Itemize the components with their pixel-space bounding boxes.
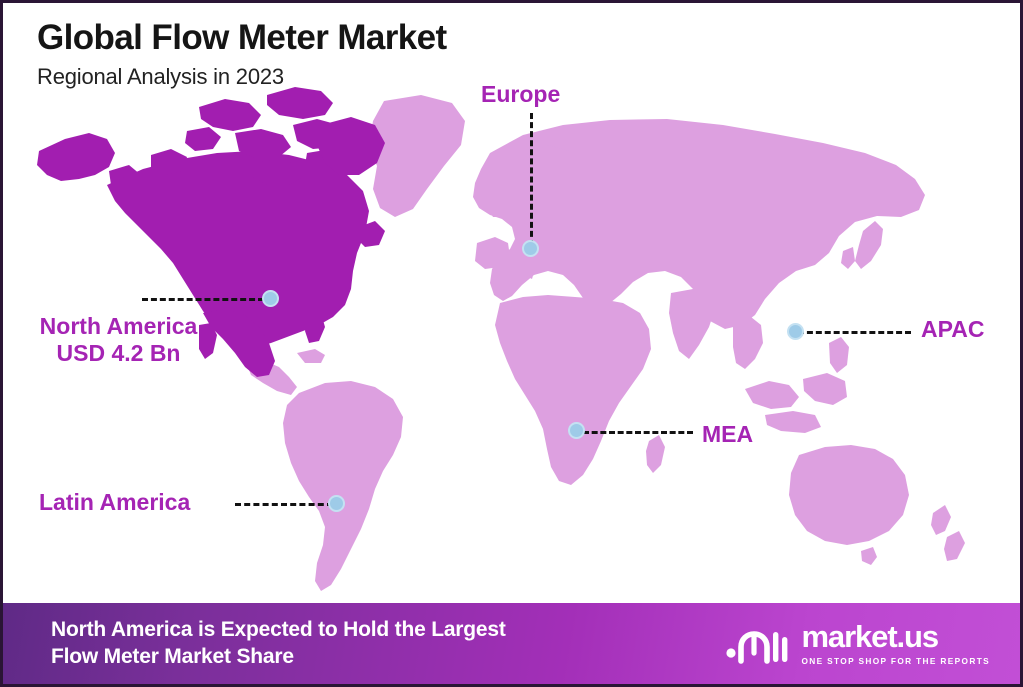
region-label-europe-name: Europe (481, 81, 560, 107)
region-label-mea-name: MEA (702, 421, 753, 447)
map-marker-europe[interactable] (522, 240, 539, 257)
footer-headline-line2: Flow Meter Market Share (51, 644, 506, 671)
map-marker-latin-america[interactable] (328, 495, 345, 512)
region-value-north-america: USD 4.2 Bn (21, 340, 216, 367)
region-label-latin-america-name: Latin America (39, 489, 190, 515)
logo-tagline: ONE STOP SHOP FOR THE REPORTS (801, 656, 990, 666)
infographic-poster: Global Flow Meter Market Regional Analys… (0, 0, 1023, 687)
market-us-logo-icon (724, 623, 790, 665)
connector-line-mea (583, 431, 693, 434)
connector-line-europe (530, 113, 533, 246)
region-label-europe: Europe (481, 81, 560, 108)
page-subtitle: Regional Analysis in 2023 (37, 64, 447, 90)
map-marker-apac[interactable] (787, 323, 804, 340)
map-marker-mea[interactable] (568, 422, 585, 439)
region-label-apac: APAC (921, 316, 984, 343)
region-label-north-america-name: North America (40, 313, 198, 339)
footer-headline: North America is Expected to Hold the La… (51, 617, 506, 671)
region-label-latin-america: Latin America (39, 489, 190, 516)
header: Global Flow Meter Market Regional Analys… (37, 19, 447, 90)
logo-typography: market.us ONE STOP SHOP FOR THE REPORTS (801, 621, 990, 666)
brand-logo[interactable]: market.us ONE STOP SHOP FOR THE REPORTS (724, 621, 1004, 666)
region-label-north-america: North America USD 4.2 Bn (21, 313, 216, 367)
map-marker-north-america[interactable] (262, 290, 279, 307)
annotation-layer: Europe APAC MEA North America USD 4.2 Bn… (3, 3, 1023, 603)
connector-line-apac (798, 331, 911, 334)
page-title: Global Flow Meter Market (37, 19, 447, 58)
connector-line-north-america (142, 298, 264, 301)
footer-bar: North America is Expected to Hold the La… (3, 603, 1023, 684)
logo-wordmark: market.us (801, 621, 990, 652)
region-label-mea: MEA (702, 421, 753, 448)
footer-headline-line1: North America is Expected to Hold the La… (51, 618, 506, 641)
region-label-apac-name: APAC (921, 316, 984, 342)
connector-line-latin-america (235, 503, 333, 506)
